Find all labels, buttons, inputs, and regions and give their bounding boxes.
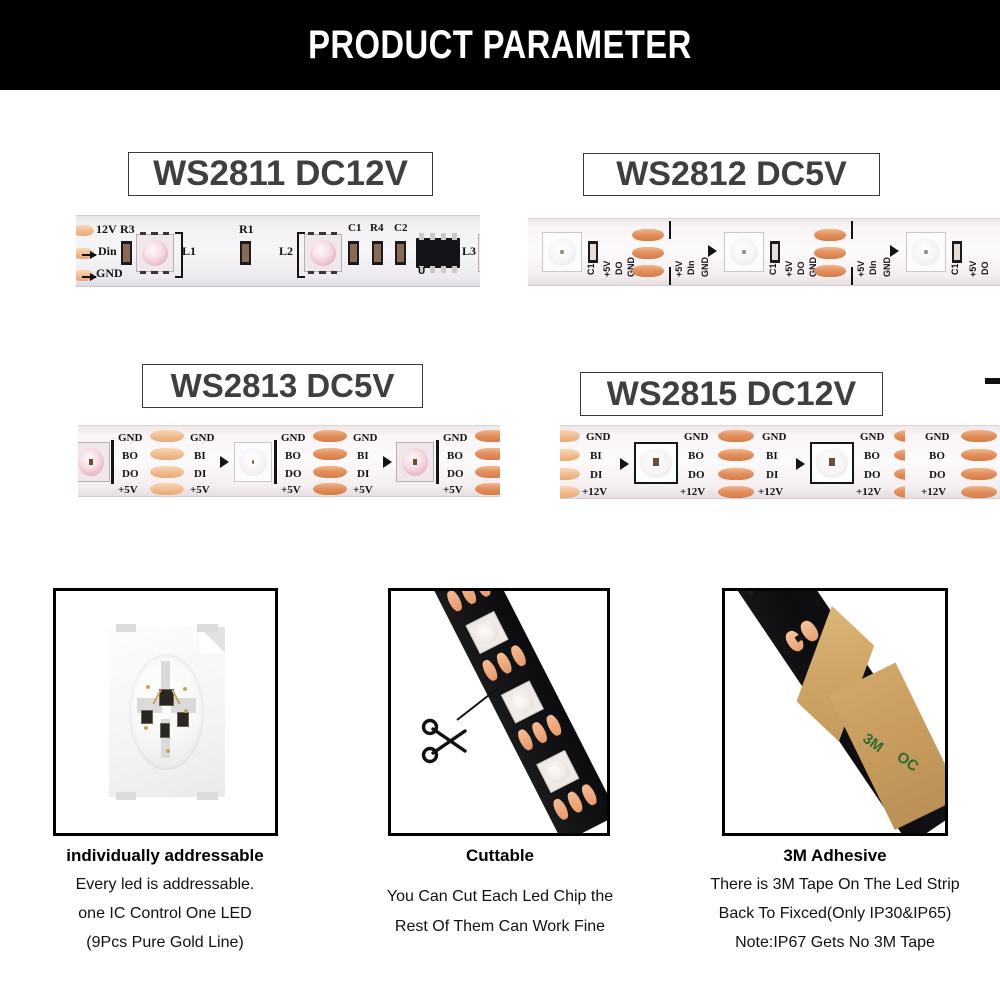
silk2813-do-1: DO <box>122 468 139 480</box>
silk-do-a: DO <box>614 262 624 276</box>
silk2815-gnd-l2: GND <box>762 431 786 443</box>
silk2815-bo-1: BO <box>688 450 704 462</box>
silk-c2: C2 <box>394 222 407 234</box>
silk2813-do-3: DO <box>447 468 464 480</box>
led-ws2812-1 <box>542 232 582 272</box>
feature-image-led-chip <box>53 588 278 836</box>
feature-line-1-2: (9Pcs Pure Gold Line) <box>40 934 290 952</box>
silk-r4: R4 <box>370 222 383 234</box>
silk-gnd-d: GND <box>882 257 892 277</box>
feature-line-1-0: Every led is addressable. <box>40 876 290 894</box>
led-ws2813-1 <box>78 442 110 482</box>
led-ws2812-2 <box>724 232 764 272</box>
silk-12v: 12V <box>96 222 117 237</box>
silk2815-di-2: DI <box>766 469 778 481</box>
silk-l1: L1 <box>182 244 196 259</box>
silk-5v-a: +5V <box>602 261 612 277</box>
led-package <box>109 627 225 796</box>
silk-c1-a: C1 <box>586 263 596 275</box>
led-ws2815-1 <box>634 442 678 484</box>
silk-do-c: DO <box>980 262 990 276</box>
silk-5v-d: +5V <box>856 261 866 277</box>
silk-gnd-b: GND <box>700 257 710 277</box>
feature-title-1: individually addressable <box>40 846 290 866</box>
silk-gnd: GND <box>96 266 123 281</box>
silk-din-b: DIn <box>686 261 696 276</box>
page-header: PRODUCT PARAMETER <box>0 0 1000 90</box>
silk2813-gnd-r2: GND <box>353 432 377 444</box>
row-edge-marker <box>985 378 1000 384</box>
feature-line-3-2: Note:IP67 Gets No 3M Tape <box>700 934 970 952</box>
silk2813-di-2: DI <box>357 468 369 480</box>
silk2815-bi-1: BI <box>590 450 602 462</box>
strip-label-ws2815: WS2815 DC12V <box>580 372 883 416</box>
silk-din: Din <box>98 244 117 259</box>
silk2813-bo-2: BO <box>285 450 301 462</box>
silk-5v-b: +5V <box>674 261 684 277</box>
strip-label-ws2815-text: WS2815 DC12V <box>607 375 856 414</box>
scissors-icon <box>421 717 471 765</box>
silk2813-gnd-l1: GND <box>118 432 142 444</box>
silk-c1: C1 <box>348 222 361 234</box>
silk2815-12v-l2: +12V <box>758 486 783 498</box>
strip-label-ws2813-text: WS2813 DC5V <box>171 367 395 405</box>
feature-image-3m-tape: 3M OC <box>722 588 948 836</box>
silk2813-bo-3: BO <box>447 450 463 462</box>
silk2815-di-1: DI <box>590 469 602 481</box>
strip-label-ws2811: WS2811 DC12V <box>128 152 433 196</box>
silk2815-gnd-r1: GND <box>684 431 708 443</box>
silk2815-12v-l1: +12V <box>582 486 607 498</box>
silk2815-gnd-edge: GND <box>925 431 949 443</box>
strip-label-ws2812-text: WS2812 DC5V <box>616 155 847 194</box>
strip-label-ws2811-text: WS2811 DC12V <box>153 154 408 194</box>
feature-3m-adhesive: 3M OC 3M Adhesive There is 3M Tape On Th… <box>700 588 970 958</box>
silk2813-bi-2: BI <box>357 450 369 462</box>
strip-photo-ws2811: 12V R3 Din GND L1 R1 L2 C1 R4 C2 U L3 R2… <box>76 215 480 287</box>
led-l2 <box>304 234 342 272</box>
green-die <box>160 723 170 738</box>
silk2815-do-1: DO <box>688 469 705 481</box>
strip-label-ws2812: WS2812 DC5V <box>583 153 880 196</box>
led-l1 <box>136 234 174 272</box>
silk-5v-e: +5V <box>968 261 978 277</box>
silk2815-bo-edge: BO <box>929 450 945 462</box>
strip-photo-ws2815-edge: GND BO DO +12V <box>905 425 1000 499</box>
silk2813-bi-1: BI <box>194 450 206 462</box>
strip-photo-ws2812: C1 +5V DO GND +5V DIn GND C1 +5V DO GND … <box>528 218 1000 286</box>
feature-cuttable: Cuttable You Can Cut Each Led Chip the R… <box>370 588 630 958</box>
silk2813-di-1: DI <box>194 468 206 480</box>
feature-individually-addressable: individually addressable Every led is ad… <box>40 588 290 958</box>
silk-do-b: DO <box>796 262 806 276</box>
silk2813-5v-r2: +5V <box>353 484 373 496</box>
silk2813-gnd-l2: GND <box>281 432 305 444</box>
feature-line-2-0: You Can Cut Each Led Chip the <box>370 888 630 906</box>
blue-die <box>177 712 189 727</box>
silk2813-5v-l1: +5V <box>118 484 138 496</box>
strip-label-ws2813: WS2813 DC5V <box>142 364 423 408</box>
silk-r3: R3 <box>120 222 135 237</box>
red-die <box>141 710 153 725</box>
silk2813-bo-1: BO <box>122 450 138 462</box>
silk2815-do-2: DO <box>864 469 881 481</box>
feature-title-3: 3M Adhesive <box>700 846 970 866</box>
led-ws2813-3 <box>396 442 434 482</box>
led-ws2813-2 <box>234 442 272 482</box>
silk2815-do-edge: DO <box>929 469 946 481</box>
silk-c1-b: C1 <box>768 263 778 275</box>
silk-5v-c: +5V <box>784 261 794 277</box>
silk-c1-c: C1 <box>950 263 960 275</box>
feature-line-3-0: There is 3M Tape On The Led Strip <box>700 876 970 894</box>
silk-din-c: DIn <box>868 261 878 276</box>
silk2813-5v-l3: +5V <box>443 484 463 496</box>
feature-line-2-1: Rest Of Them Can Work Fine <box>370 918 630 936</box>
silk-u1: U <box>418 266 425 277</box>
silk2815-gnd-r2: GND <box>860 431 884 443</box>
silk-r1: R1 <box>239 222 254 237</box>
led-ws2812-3 <box>906 232 946 272</box>
silk2815-bi-2: BI <box>766 450 778 462</box>
led-ws2815-2 <box>810 442 854 484</box>
silk2815-12v-edge: +12V <box>921 486 946 498</box>
silk2815-12v-r1: +12V <box>680 486 705 498</box>
silk2813-5v-r1: +5V <box>190 484 210 496</box>
strip-photo-ws2813: GND BO DO +5V GND BI DI +5V GND BO DO +5… <box>78 425 500 497</box>
ic-chip <box>416 238 460 268</box>
silk-l2: L2 <box>279 244 293 259</box>
silk2813-do-2: DO <box>285 468 302 480</box>
black-led-strip <box>413 588 610 836</box>
silk2813-5v-l2: +5V <box>281 484 301 496</box>
silk2815-12v-r2: +12V <box>856 486 881 498</box>
feature-title-2: Cuttable <box>370 846 630 866</box>
page-title: PRODUCT PARAMETER <box>308 23 692 68</box>
led-lens <box>129 654 203 769</box>
silk2813-gnd-l3: GND <box>443 432 467 444</box>
feature-line-3-1: Back To Fixced(Only IP30&IP65) <box>700 905 970 923</box>
silk2813-gnd-r1: GND <box>190 432 214 444</box>
feature-line-1-1: one IC Control One LED <box>40 905 290 923</box>
led-l3 <box>478 234 480 272</box>
silk-l3: L3 <box>462 244 476 259</box>
feature-image-cuttable <box>388 588 610 836</box>
silk2815-bo-2: BO <box>864 450 880 462</box>
silk2815-gnd-l1: GND <box>586 431 610 443</box>
